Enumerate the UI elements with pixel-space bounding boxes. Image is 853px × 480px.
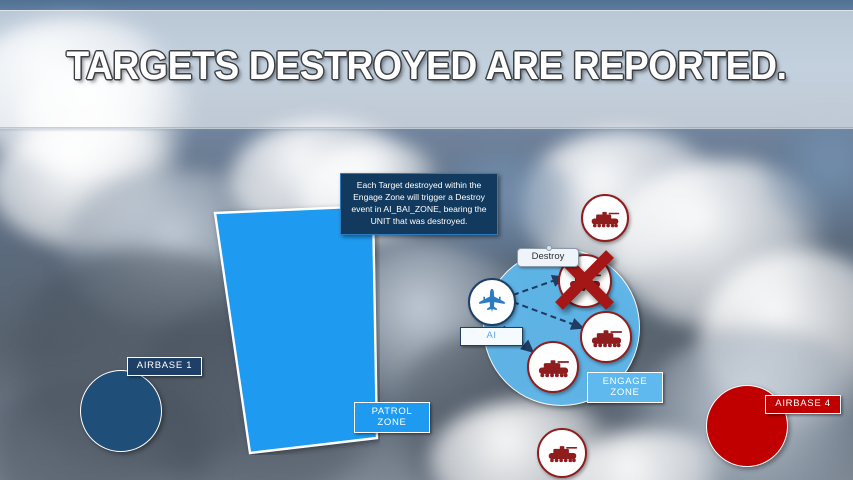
label-engage-zone-line2: ZONE (592, 388, 658, 399)
label-patrol-zone-line2: ZONE (359, 418, 425, 429)
unit-target-south-outside[interactable] (537, 428, 587, 478)
callout-nub-icon (546, 245, 552, 251)
unit-aircraft-ai[interactable] (468, 278, 516, 326)
top-strip (0, 0, 853, 10)
unit-target-south[interactable] (527, 341, 579, 393)
slide-canvas: TARGETS DESTROYED ARE REPORTED. (0, 0, 853, 480)
page-title: TARGETS DESTROYED ARE REPORTED. (30, 44, 823, 89)
tank-icon (589, 207, 621, 230)
tank-icon (567, 268, 603, 294)
tank-icon (589, 325, 624, 350)
label-destroy-event[interactable]: Destroy (517, 248, 579, 267)
airbase-1-circle[interactable] (80, 370, 162, 452)
label-ai-unit[interactable]: AI (460, 327, 523, 346)
label-airbase-1[interactable]: AIRBASE 1 (127, 357, 202, 376)
label-patrol-zone[interactable]: PATROL ZONE (354, 402, 430, 433)
label-destroy-event-text: Destroy (532, 251, 565, 262)
info-callout-box: Each Target destroyed within the Engage … (340, 173, 498, 235)
unit-target-north-outside[interactable] (581, 194, 629, 242)
title-band-shadow (0, 127, 853, 132)
tank-icon (546, 441, 579, 465)
unit-target-east[interactable] (580, 311, 632, 363)
label-engage-zone[interactable]: ENGAGE ZONE (587, 372, 663, 403)
fighter-jet-icon (477, 287, 507, 317)
tank-icon (536, 355, 571, 380)
label-airbase-4[interactable]: AIRBASE 4 (765, 395, 841, 414)
